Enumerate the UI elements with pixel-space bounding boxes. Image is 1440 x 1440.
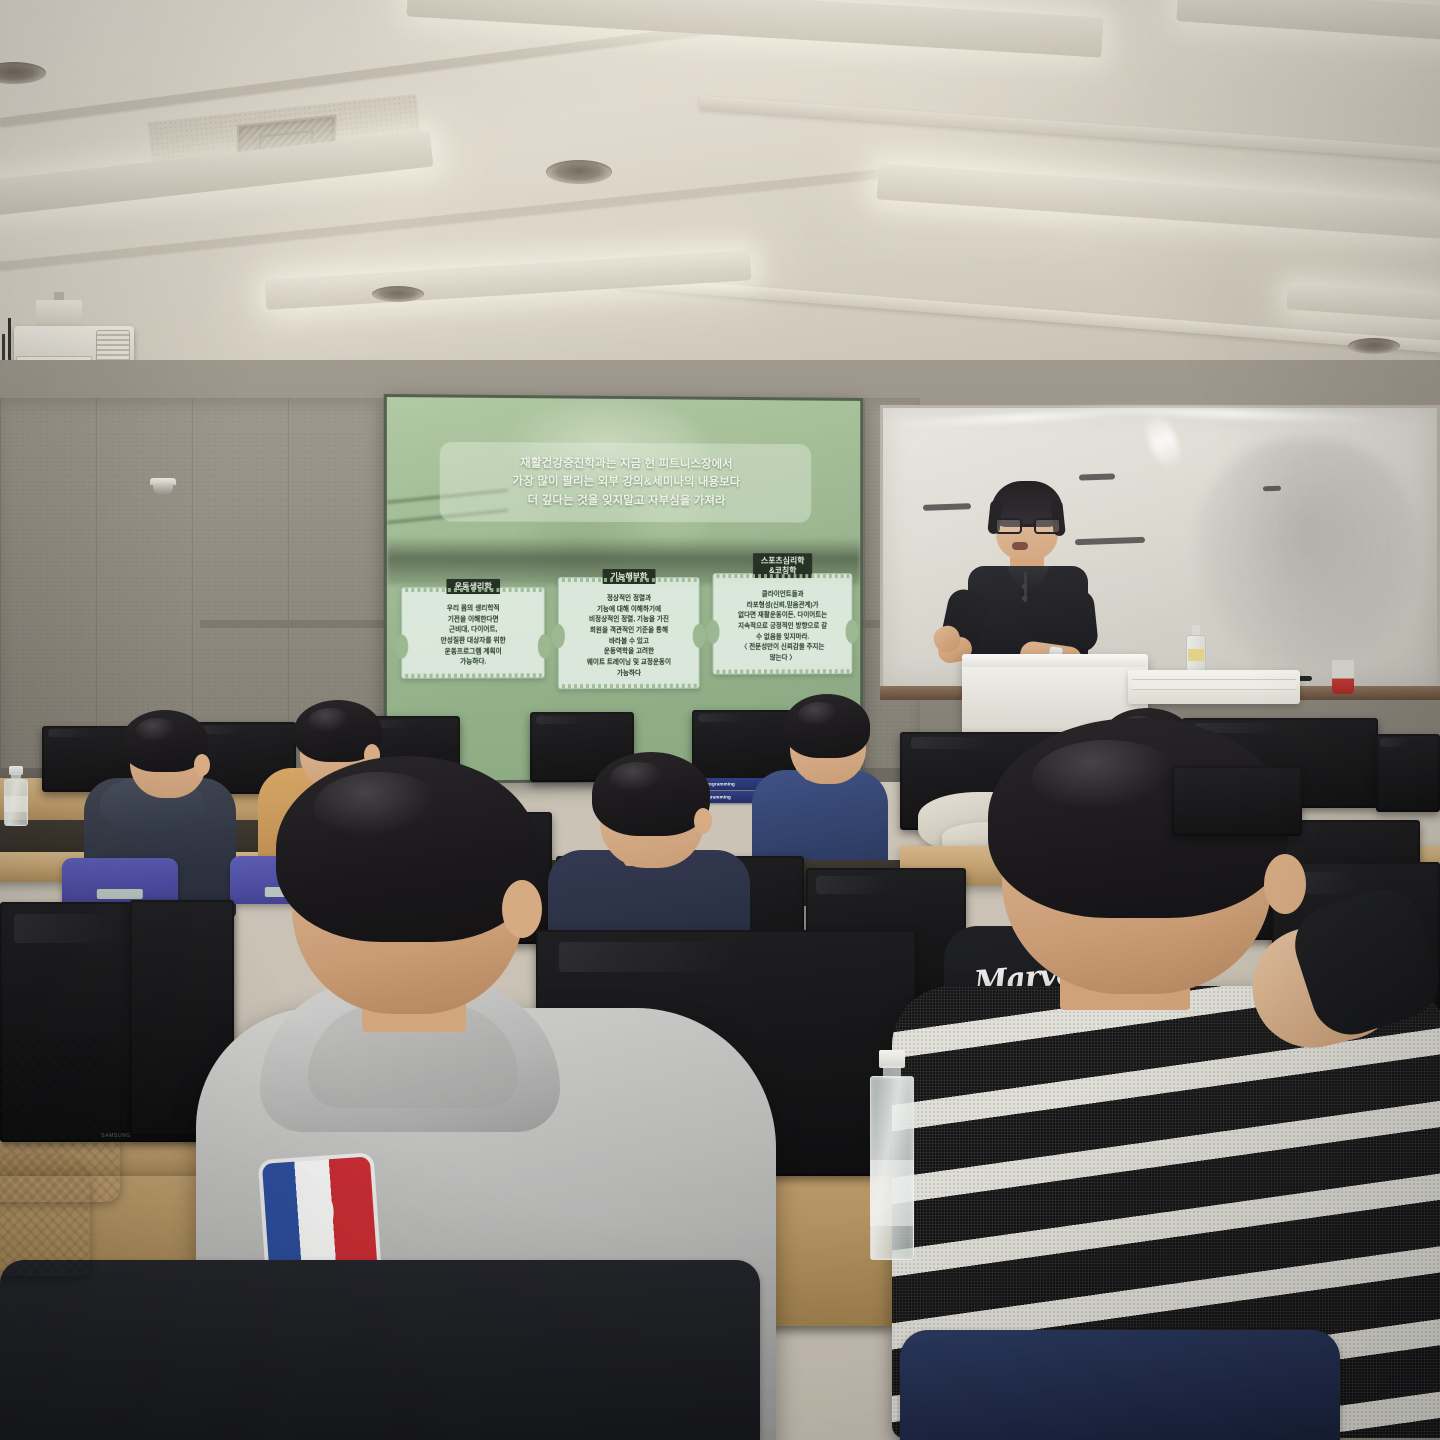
- ceiling-light: [880, 167, 1440, 236]
- presenter-right-arm: [1055, 588, 1099, 654]
- downlight: [372, 286, 424, 302]
- whiteboard-mark: [1263, 486, 1281, 492]
- card-body: 정상적인 정렬과 기능에 대해 이해하기에 비정상적인 정렬, 기능을 가진 회…: [566, 594, 692, 680]
- chair: [900, 1330, 1340, 1440]
- slide-card-exercise-physiology: 운동생리학 우리 몸의 생리학적 기전을 이해한다면 근비대, 다이어트, 만성…: [401, 587, 545, 679]
- whiteboard-mark: [923, 503, 971, 511]
- downlight: [546, 160, 612, 184]
- slide-card-sport-psychology: 스포츠심리학 &코칭학 클라이언트들과 라포형성(신뢰,믿음관계)가 없다면 재…: [713, 573, 853, 674]
- lecture-hall-photo: 재활건강증진학과는 지금 현 피트니스장에서 가장 많이 팔리는 외부 강의&세…: [0, 0, 1440, 1440]
- whiteboard-shadow: [1197, 438, 1417, 668]
- water-bottle: [4, 766, 28, 826]
- card-line: 만성질환 대상자를 위한: [409, 636, 537, 647]
- presenter-mouth: [1012, 542, 1028, 550]
- card-body: 클라이언트들과 라포형성(신뢰,믿음관계)가 없다면 재활운동이든, 다이어트는…: [720, 590, 844, 664]
- slide-card-row: 운동생리학 우리 몸의 생리학적 기전을 이해한다면 근비대, 다이어트, 만성…: [401, 573, 852, 704]
- glasses-icon: [995, 518, 1061, 534]
- ceiling-light: [1179, 0, 1440, 38]
- card-line: 우리 몸의 생리학적: [409, 604, 537, 615]
- ceiling-light: [1289, 286, 1440, 317]
- security-camera-icon: [150, 478, 176, 496]
- card-line: 수 없음을 잊지마라.: [720, 632, 844, 643]
- card-line: 비정상적인 정렬, 기능을 가진: [566, 615, 692, 626]
- card-line: 라포형성(신뢰,믿음관계)가: [720, 601, 844, 612]
- card-line: 기능에 대해 이해하기에: [566, 605, 692, 616]
- card-line: 가능하다: [566, 668, 692, 679]
- card-line: 웨이트 트레이닝 및 교정운동이: [566, 658, 692, 669]
- headline-line-2: 가장 많이 팔리는 외부 강의&세미나의 내용보다: [450, 473, 802, 493]
- card-line: 없다면 재활운동이든, 다이어트는: [720, 611, 844, 622]
- card-body: 우리 몸의 생리학적 기전을 이해한다면 근비대, 다이어트, 만성질환 대상자…: [409, 604, 537, 669]
- hand-sanitizer-bottle: [1186, 625, 1206, 673]
- card-line: 근비대, 다이어트,: [409, 625, 537, 636]
- headline-line-3: 더 깊다는 것을 잊지말고 자부심을 가져라: [450, 491, 802, 511]
- card-line: 운동프로그램 계획이: [409, 647, 537, 658]
- front-desk: [1128, 670, 1300, 704]
- headline-line-1: 재활건강증진학과는 지금 현 피트니스장에서: [450, 454, 802, 474]
- card-line: 지속적으로 긍정적인 방향으로 갈: [720, 622, 844, 633]
- chair: [0, 1260, 760, 1440]
- slide-headline: 재활건강증진학과는 지금 현 피트니스장에서 가장 많이 팔리는 외부 강의&세…: [440, 442, 811, 523]
- downlight: [1348, 338, 1400, 354]
- red-cup: [1332, 660, 1354, 694]
- monitor: [1172, 766, 1302, 836]
- card-line: 기전을 이해한다면: [409, 615, 537, 626]
- whiteboard-mark: [1079, 473, 1115, 480]
- ceiling-light: [410, 0, 1101, 54]
- card-line: 〈 전문성만이 신뢰감을 주지는: [720, 643, 844, 654]
- card-line: 않는다 〉: [720, 653, 844, 664]
- ceiling: [0, 0, 1440, 420]
- slide-card-functional-anatomy: 기능해부학 정상적인 정렬과 기능에 대해 이해하기에 비정상적인 정렬, 기능…: [558, 577, 700, 690]
- card-line: 클라이언트들과: [720, 590, 844, 601]
- card-line: 바라볼 수 있고: [566, 637, 692, 648]
- water-bottle: [870, 1050, 914, 1260]
- monitor: [1376, 734, 1440, 812]
- ceiling-light: [268, 253, 749, 306]
- card-line: 가능하다.: [409, 658, 537, 669]
- student-knit-sleeve: [0, 1156, 90, 1276]
- whiteboard-mark: [1075, 537, 1145, 545]
- card-line: 운동역학을 고려한: [566, 647, 692, 658]
- card-line: 정상적인 정렬과: [566, 594, 692, 605]
- downlight: [0, 62, 46, 84]
- card-line: 회원을 객관적인 기준을 통해: [566, 626, 692, 637]
